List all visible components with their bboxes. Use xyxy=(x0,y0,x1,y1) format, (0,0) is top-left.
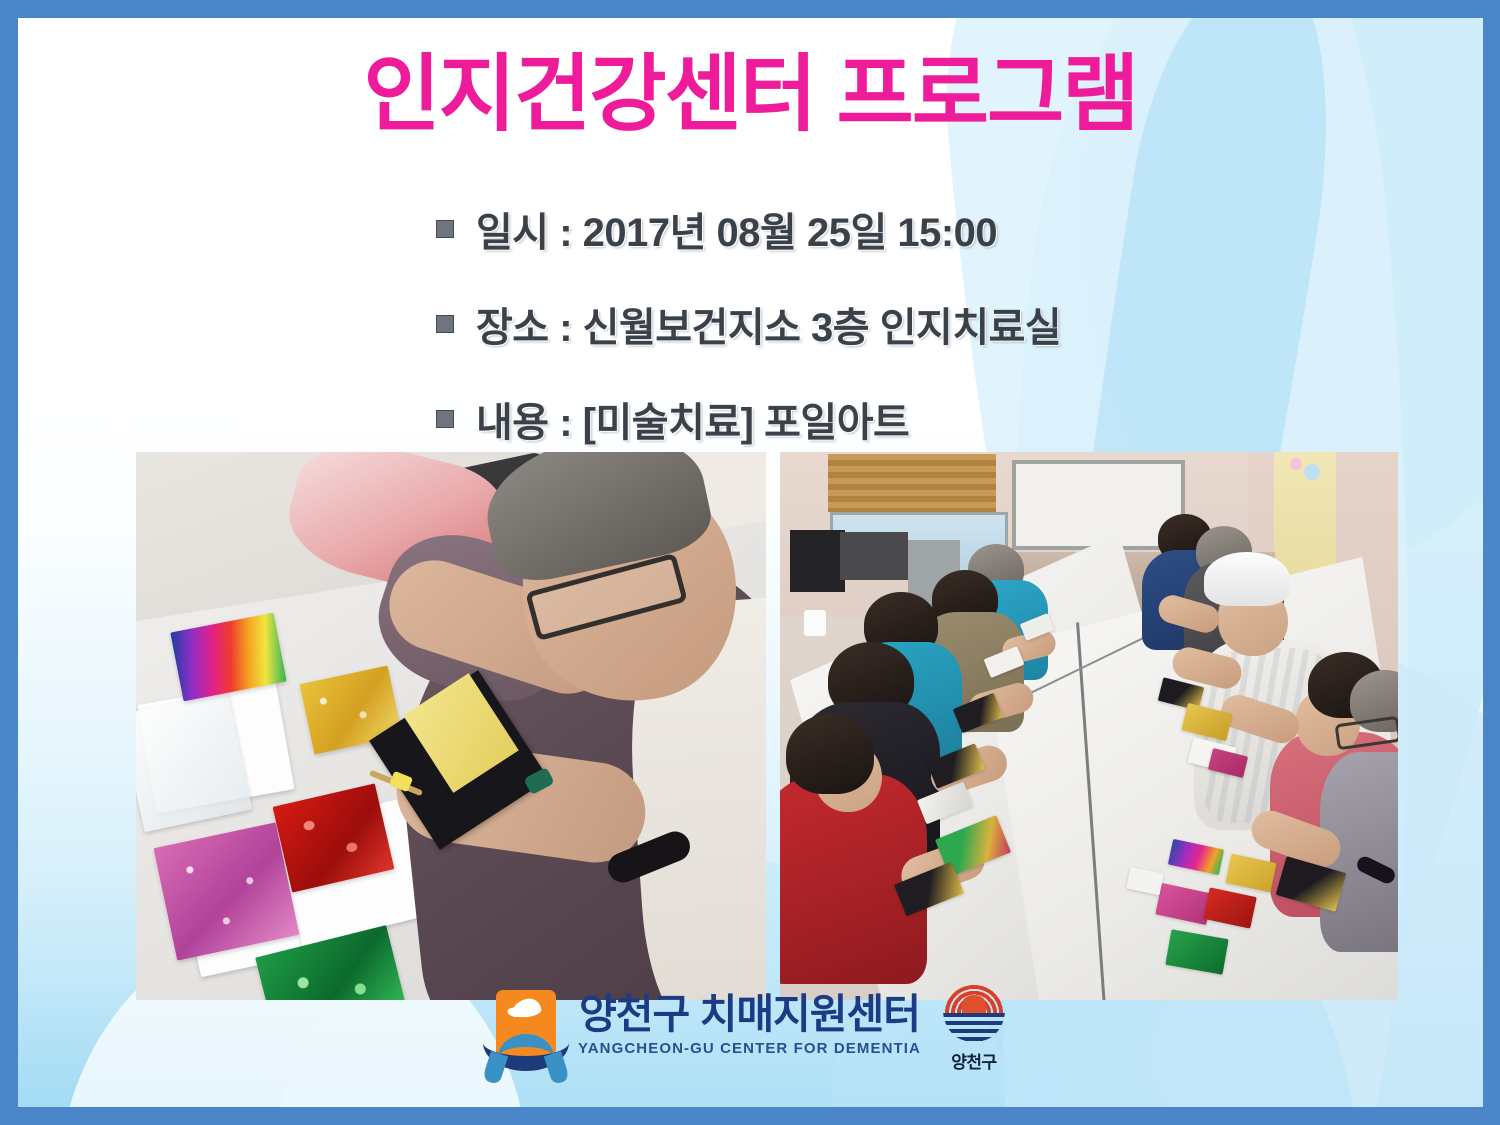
participant-hair xyxy=(786,714,874,794)
center-name-block: 양천구 치매지원센터 YANGCHEON-GU CENTER FOR DEMEN… xyxy=(578,994,921,1056)
printer xyxy=(840,532,908,580)
list-item: 장소 : 신월보건지소 3층 인지치료실 xyxy=(436,295,1061,353)
list-item: 내용 : [미술치료] 포일아트 xyxy=(436,390,1061,448)
detail-content: 내용 : [미술치료] 포일아트 xyxy=(476,390,909,448)
computer-monitor xyxy=(790,530,845,592)
gu-emblem-label: 양천구 xyxy=(951,1048,996,1073)
center-name-korean: 양천구 치매지원센터 xyxy=(579,994,920,1035)
detail-location: 장소 : 신월보건지소 3층 인지치료실 xyxy=(476,295,1061,353)
banner-dot xyxy=(1290,458,1302,470)
square-bullet-icon xyxy=(436,410,454,428)
poster-canvas: 인지건강센터 프로그램 일시 : 2017년 08월 25일 15:00 장소 … xyxy=(18,18,1483,1107)
photo-left xyxy=(136,452,766,1000)
list-item: 일시 : 2017년 08월 25일 15:00 xyxy=(436,200,1061,258)
square-bullet-icon xyxy=(436,220,454,238)
water-waves-icon xyxy=(943,1013,1005,1041)
dementia-center-logo-icon xyxy=(496,990,556,1060)
banner-dot xyxy=(1304,464,1320,480)
center-name-english: YANGCHEON-GU CENTER FOR DEMENTIA xyxy=(578,1041,921,1056)
program-details-list: 일시 : 2017년 08월 25일 15:00 장소 : 신월보건지소 3층 … xyxy=(436,200,1061,485)
detail-datetime: 일시 : 2017년 08월 25일 15:00 xyxy=(476,200,997,258)
footer-logos: 양천구 치매지원센터 YANGCHEON-GU CENTER FOR DEMEN… xyxy=(18,977,1483,1073)
sun-icon xyxy=(962,995,986,1013)
gu-emblem-icon xyxy=(943,977,1005,1043)
photo-gallery xyxy=(136,452,1398,1000)
poster-frame: 인지건강센터 프로그램 일시 : 2017년 08월 25일 15:00 장소 … xyxy=(0,0,1500,1125)
yangcheon-gu-emblem: 양천구 xyxy=(943,977,1005,1073)
square-bullet-icon xyxy=(436,315,454,333)
photo-right xyxy=(780,452,1398,1000)
logo-figure-shape xyxy=(498,1034,554,1081)
page-title: 인지건강센터 프로그램 xyxy=(18,52,1483,136)
white-cap xyxy=(1204,552,1290,606)
paper-cup xyxy=(804,610,826,636)
